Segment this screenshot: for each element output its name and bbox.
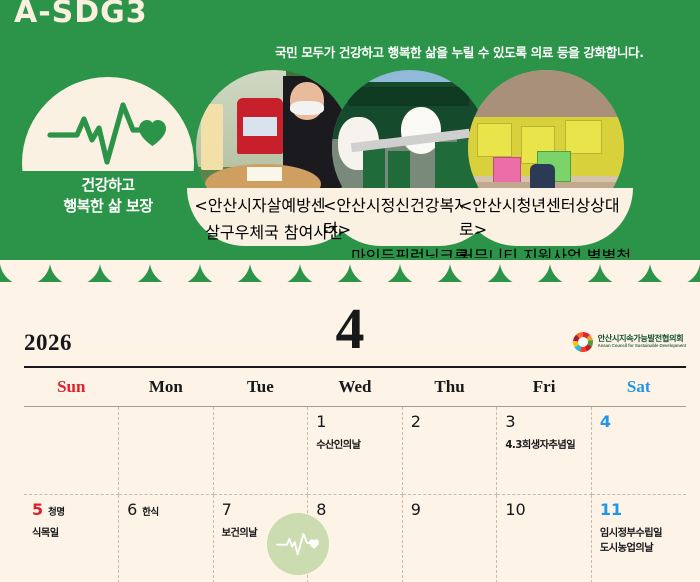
calendar-cell-content: 11임시정부수립일도시농업의날 — [600, 502, 680, 557]
calendar-day-header: 9 — [411, 502, 491, 520]
photo-caption-3: <안산시청년센터상상대로> 커뮤니티 지원사업 별별청년 — [459, 188, 633, 246]
header-tagline: 국민 모두가 건강하고 행복한 삶을 누릴 수 있도록 의료 등을 강화합니다. — [275, 42, 690, 61]
brand-title: A-SDG3 — [14, 22, 194, 84]
calendar-year: 2026 — [24, 330, 72, 356]
calendar-body: 1수산인의날234.3희생자추념일45청명식목일6한식7보건의날891011임시… — [24, 407, 686, 582]
weekday-header-mon: Mon — [119, 369, 214, 407]
calendar-day-cell-empty — [24, 407, 119, 495]
calendar-day-cell-3[interactable]: 34.3희생자추념일 — [497, 407, 592, 495]
calendar-event: 식목일 — [32, 526, 112, 541]
calendar-cell-content: 10 — [505, 502, 585, 520]
calendar-event-list: 임시정부수립일도시농업의날 — [600, 526, 680, 557]
calendar-inline-event: 청명 — [48, 507, 64, 518]
calendar-event-list: 4.3희생자추념일 — [505, 438, 585, 453]
calendar-day-number: 8 — [316, 502, 326, 518]
calendar-day-number: 2 — [411, 414, 421, 430]
calendar-weekday-header-row: Sun Mon Tue Wed Thu Fri Sat — [24, 369, 686, 407]
calendar-day-number: 9 — [411, 502, 421, 518]
calendar-week-row: 1수산인의날234.3희생자추념일4 — [24, 407, 686, 495]
calendar-day-number: 11 — [600, 502, 622, 518]
calendar-cell-content: 4 — [600, 414, 680, 432]
weekday-header-tue: Tue — [213, 369, 308, 407]
calendar-top-rule — [24, 366, 686, 368]
scalloped-divider-fill — [0, 282, 700, 292]
calendar-event: 수산인의날 — [316, 438, 396, 453]
calendar-cell-content: 34.3희생자추념일 — [505, 414, 585, 453]
calendar-day-header: 8 — [316, 502, 396, 520]
calendar-day-header: 3 — [505, 414, 585, 432]
calendar-day-header: 6한식 — [127, 502, 207, 520]
calendar-cell-content: 9 — [411, 502, 491, 520]
calendar-cell-content: 1수산인의날 — [316, 414, 396, 453]
calendar-cell-content: 6한식 — [127, 502, 207, 520]
organization-logo-text: 안산시지속가능발전협의회 Ansan Council for Sustainab… — [598, 335, 686, 348]
organization-logo: 안산시지속가능발전협의회 Ansan Council for Sustainab… — [573, 332, 686, 352]
calendar-day-header: 5청명 — [32, 502, 112, 520]
organization-name-en: Ansan Council for Sustainable Developmen… — [598, 344, 686, 349]
photo-caption-3-sub: <안산시청년센터상상대로> — [459, 192, 633, 240]
weekday-header-sun: Sun — [24, 369, 119, 407]
calendar-day-header: 10 — [505, 502, 585, 520]
calendar-day-cell-9[interactable]: 9 — [402, 495, 497, 582]
weekday-header-fri: Fri — [497, 369, 592, 407]
calendar-day-header: 4 — [600, 414, 680, 432]
calendar-event: 임시정부수립일 — [600, 526, 680, 541]
calendar-day-header: 11 — [600, 502, 680, 520]
calendar-event: 도시농업의날 — [600, 541, 680, 556]
calendar-section: 4 2026 안산시지속가능발전협의회 Ansan Council for Su… — [0, 292, 700, 582]
calendar-day-cell-empty — [119, 407, 214, 495]
calendar-event: 4.3희생자추념일 — [505, 438, 585, 453]
calendar-day-cell-11[interactable]: 11임시정부수립일도시농업의날 — [591, 495, 686, 582]
calendar-day-cell-7[interactable]: 7보건의날 — [213, 495, 308, 582]
identity-circle: 건강하고 행복한 삶 보장 — [22, 77, 194, 249]
calendar-event-list: 수산인의날 — [316, 438, 396, 453]
calendar-day-cell-5[interactable]: 5청명식목일 — [24, 495, 119, 582]
calendar-day-number: 4 — [600, 414, 611, 430]
identity-label-line2: 행복한 삶 보장 — [22, 196, 194, 217]
calendar-day-header: 2 — [411, 414, 491, 432]
calendar-cell-content: 7보건의날 — [222, 502, 302, 541]
weekday-header-wed: Wed — [308, 369, 403, 407]
calendar-event-list: 식목일 — [32, 526, 112, 541]
calendar-day-number: 6 — [127, 502, 137, 518]
calendar-day-number: 1 — [316, 414, 326, 430]
calendar-table: Sun Mon Tue Wed Thu Fri Sat 1수산인의날234.3희… — [24, 369, 686, 582]
calendar-day-number: 10 — [505, 502, 525, 518]
identity-label-line1: 건강하고 — [22, 175, 194, 196]
calendar-day-header: 7 — [222, 502, 302, 520]
heartbeat-heart-icon — [22, 85, 194, 180]
calendar-cell-content: 8 — [316, 502, 396, 520]
calendar-day-cell-6[interactable]: 6한식 — [119, 495, 214, 582]
calendar-grid: Sun Mon Tue Wed Thu Fri Sat 1수산인의날234.3희… — [24, 369, 686, 582]
calendar-day-cell-10[interactable]: 10 — [497, 495, 592, 582]
calendar-day-cell-2[interactable]: 2 — [402, 407, 497, 495]
calendar-day-cell-8[interactable]: 8 — [308, 495, 403, 582]
brand-title-text: A-SDG3 — [14, 0, 148, 30]
calendar-day-number: 5 — [32, 502, 43, 518]
calendar-day-cell-empty — [213, 407, 308, 495]
calendar-event: 보건의날 — [222, 526, 302, 541]
calendar-day-number: 3 — [505, 414, 515, 430]
calendar-day-cell-4[interactable]: 4 — [591, 407, 686, 495]
calendar-day-number: 7 — [222, 502, 232, 518]
weekday-header-sat: Sat — [591, 369, 686, 407]
calendar-day-cell-1[interactable]: 1수산인의날 — [308, 407, 403, 495]
weekday-header-thu: Thu — [402, 369, 497, 407]
calendar-cell-content: 2 — [411, 414, 491, 432]
header-banner: A-SDG3 국민 모두가 건강하고 행복한 삶을 누릴 수 있도록 의료 등을… — [0, 0, 700, 292]
calendar-day-header: 1 — [316, 414, 396, 432]
sdg3-april-calendar-page: A-SDG3 국민 모두가 건강하고 행복한 삶을 누릴 수 있도록 의료 등을… — [0, 0, 700, 582]
calendar-week-row: 5청명식목일6한식7보건의날891011임시정부수립일도시농업의날 — [24, 495, 686, 582]
sdg-wheel-icon — [573, 332, 593, 352]
calendar-event-list: 보건의날 — [222, 526, 302, 541]
identity-circle-label: 건강하고 행복한 삶 보장 — [22, 175, 194, 216]
calendar-cell-content: 5청명식목일 — [32, 502, 112, 541]
calendar-inline-event: 한식 — [142, 507, 158, 518]
